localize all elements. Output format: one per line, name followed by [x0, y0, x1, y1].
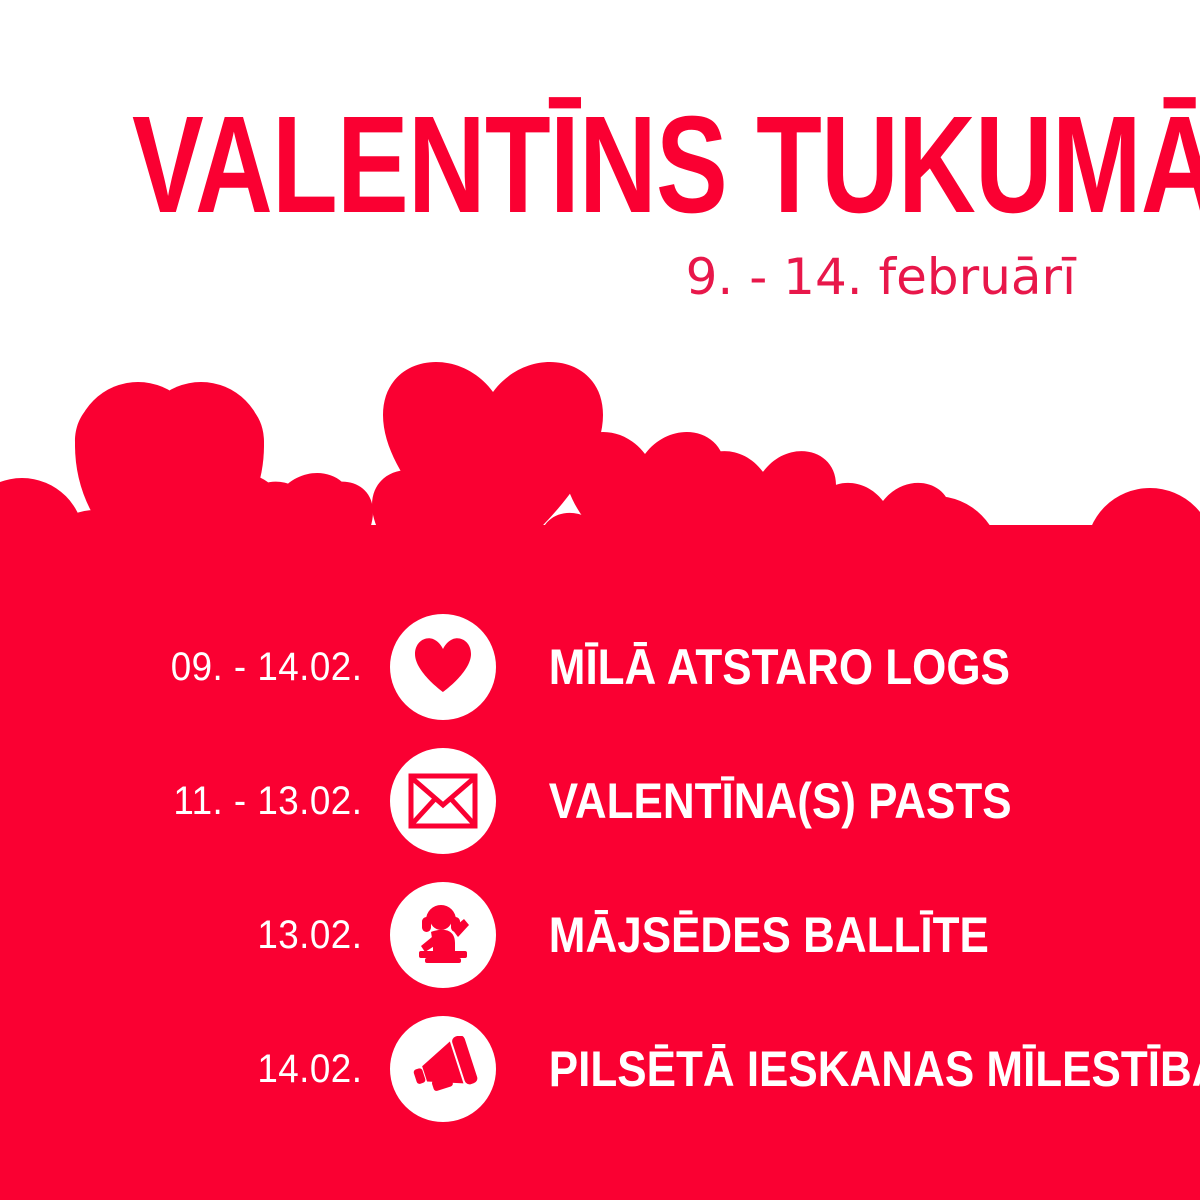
event-title: MĀJSĒDES BALLĪTE	[496, 910, 1116, 960]
list-item[interactable]: 14.02. PILSĒTĀ IESKANAS MĪLESTĪBA	[0, 1002, 1200, 1136]
event-title: VALENTĪNA(S) PASTS	[496, 776, 1116, 826]
envelope-icon	[408, 773, 478, 829]
event-date: 09. - 14.02.	[31, 647, 390, 687]
list-item[interactable]: 09. - 14.02. MĪLĀ ATSTARO LOGS	[0, 600, 1200, 734]
event-icon-badge	[390, 882, 496, 988]
event-icon-badge	[390, 614, 496, 720]
event-icon-badge	[390, 748, 496, 854]
poster-header: VALENTĪNS TUKUMĀ 9. - 14. februārī	[0, 0, 1200, 330]
heart-icon	[410, 634, 476, 700]
event-title: MĪLĀ ATSTARO LOGS	[496, 642, 1116, 692]
event-icon-badge	[390, 1016, 496, 1122]
event-date: 11. - 13.02.	[31, 781, 390, 821]
poster: VALENTĪNS TUKUMĀ 9. - 14. februārī 09. -…	[0, 0, 1200, 1200]
date-range-subtitle: 9. - 14. februārī	[686, 252, 1076, 302]
event-title: PILSĒTĀ IESKANAS MĪLESTĪBA	[496, 1044, 1200, 1094]
dj-icon	[407, 899, 479, 971]
page-title: VALENTĪNS TUKUMĀ	[132, 96, 1068, 234]
list-item[interactable]: 13.02.	[0, 868, 1200, 1002]
event-date: 13.02.	[31, 915, 390, 955]
event-date: 14.02.	[31, 1049, 390, 1089]
event-list: 09. - 14.02. MĪLĀ ATSTARO LOGS 11. - 13.…	[0, 600, 1200, 1136]
megaphone-icon	[408, 1036, 478, 1102]
list-item[interactable]: 11. - 13.02. VALENTĪNA(S) PASTS	[0, 734, 1200, 868]
